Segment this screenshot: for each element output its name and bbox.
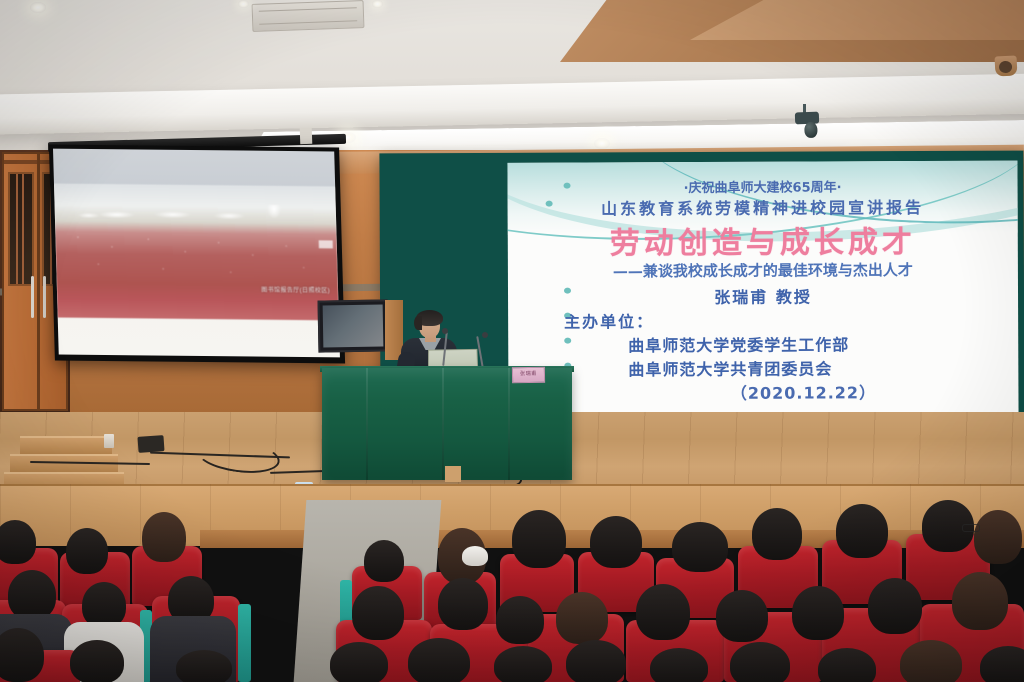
audience-head — [818, 648, 876, 682]
audience-head — [566, 640, 626, 682]
table-leg-gap — [445, 466, 461, 482]
slide-subtitle: ——兼谈我校成长成才的最佳环境与杰出人才 — [508, 259, 1018, 282]
air-vent — [252, 0, 365, 32]
audience-head — [0, 520, 36, 564]
audience-head — [752, 508, 802, 560]
slide-organizer-label: 主办单位： — [508, 306, 1018, 332]
presentation-slide: ·庆祝曲阜师大建校65周年· 山东教育系统劳模精神进校园宣讲报告 劳动创造与成长… — [507, 161, 1018, 419]
microphone-head-icon — [442, 328, 448, 334]
speaker-name-card-text: 张瑞甫 — [513, 368, 544, 382]
audience-head — [792, 586, 844, 640]
stage-monitor — [318, 299, 389, 352]
audience-head — [512, 510, 566, 568]
floor-power-box — [137, 435, 164, 453]
audience-head — [496, 596, 544, 644]
audience-head — [0, 628, 44, 682]
microphone-head-icon — [482, 332, 488, 338]
cloth-fold — [442, 368, 444, 480]
video-ceiling-lights — [55, 202, 337, 226]
audience-head — [494, 646, 552, 682]
audience-head — [462, 546, 488, 566]
audience-head — [636, 584, 690, 640]
left-screen-video-feed: 图书馆报告厅(日照校区) — [54, 184, 339, 321]
slide-organizer-two: 曲阜师范大学共青团委员会 — [508, 354, 1018, 381]
left-screen-caption: 图书馆报告厅(日照校区) — [261, 285, 330, 295]
audience-head — [330, 642, 388, 682]
audience-head — [900, 640, 962, 682]
audience-head — [364, 540, 404, 582]
door-glass-panel — [8, 172, 34, 286]
audience-head — [352, 586, 404, 640]
audience-head — [176, 650, 232, 682]
audience-head — [952, 572, 1008, 630]
slide-organizer-one: 曲阜师范大学党委学生工作部 — [508, 330, 1018, 357]
door-split — [37, 154, 40, 409]
video-audience — [55, 224, 338, 294]
left-screen-mount — [300, 128, 313, 144]
downlight-icon — [30, 2, 46, 13]
speaker-hair — [414, 316, 422, 330]
audience-head — [142, 512, 186, 562]
lecture-hall-photo: 图书馆报告厅(日照校区) ·庆祝曲阜师大建校65周年· 山东教育系统劳模精神进校… — [0, 0, 1024, 682]
audience-head — [836, 504, 888, 558]
left-projection-screen: 图书馆报告厅(日照校区) — [49, 145, 345, 364]
left-screen-surface: 图书馆报告厅(日照校区) — [53, 149, 340, 358]
slide-line-series: 山东教育系统劳模精神进校园宣讲报告 — [508, 194, 1018, 220]
slide-date: （2020.12.22） — [508, 378, 1018, 404]
audience-head — [8, 570, 56, 620]
downlight-icon — [238, 0, 249, 8]
audience-head — [66, 528, 108, 574]
audience-area — [0, 500, 1024, 682]
audience-head — [408, 638, 470, 682]
video-corner-badge — [319, 240, 333, 248]
downlight-icon — [594, 138, 610, 149]
eyeglasses-icon — [962, 524, 980, 532]
audience-head — [556, 592, 608, 644]
audience-head — [730, 642, 790, 682]
podium-table-cloth — [322, 368, 572, 480]
audience-head — [672, 522, 728, 572]
audience-head — [868, 578, 922, 634]
door-handle[interactable] — [43, 276, 46, 318]
audience-head — [70, 640, 124, 682]
cloth-fold — [508, 368, 510, 480]
slide-author: 张瑞甫 教授 — [508, 283, 1018, 309]
floor-cup — [104, 434, 114, 448]
downlight-icon — [372, 0, 383, 8]
cloth-fold — [366, 368, 368, 480]
audience-head — [590, 516, 642, 568]
audience-head — [974, 510, 1022, 564]
ceiling-speaker-icon — [994, 55, 1017, 76]
slide-text-body: ·庆祝曲阜师大建校65周年· 山东教育系统劳模精神进校园宣讲报告 劳动创造与成长… — [507, 161, 1018, 419]
audience-head — [438, 578, 488, 630]
slide-title: 劳动创造与成长成才 — [508, 217, 1018, 263]
ceiling-camera-icon — [795, 112, 819, 125]
speaker-name-card: 张瑞甫 — [512, 367, 545, 384]
door-handle[interactable] — [31, 276, 34, 318]
audience-head — [716, 590, 768, 642]
seat-armrest — [238, 604, 251, 682]
audience-head — [650, 648, 708, 682]
